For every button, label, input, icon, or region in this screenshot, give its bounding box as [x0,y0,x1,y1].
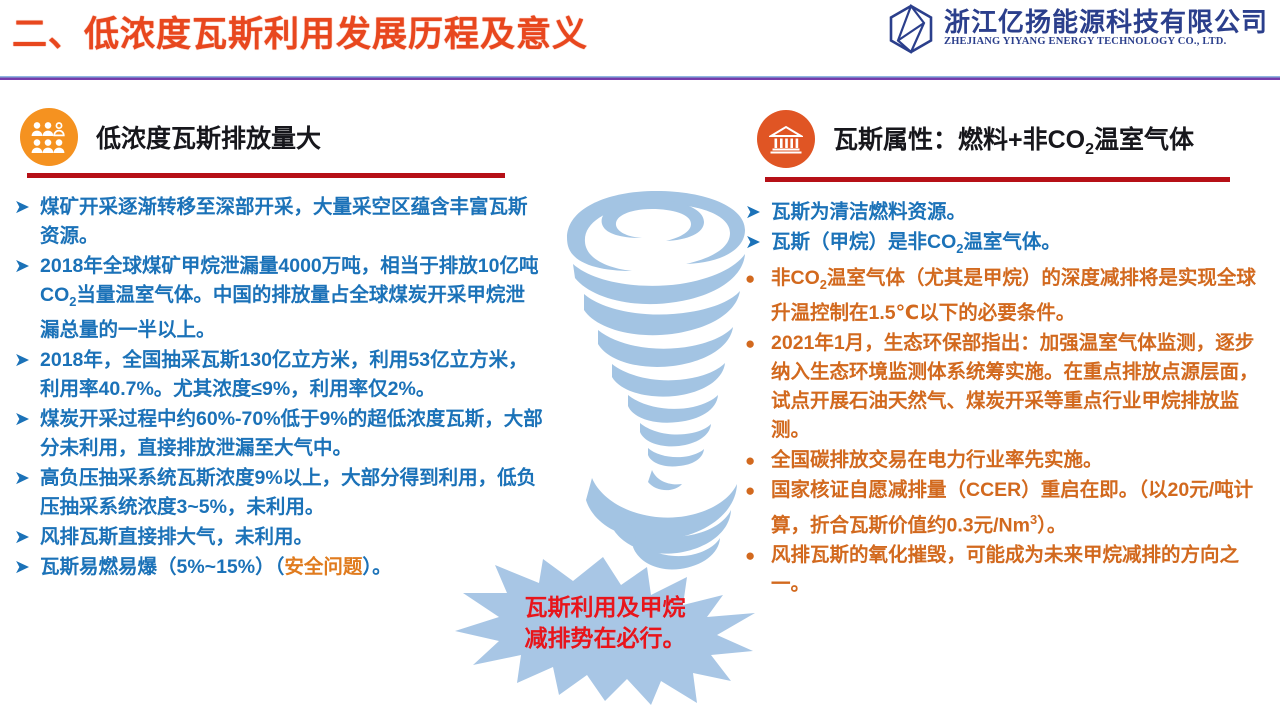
list-item-text: 非CO2温室气体（尤其是甲烷）的深度减排将是实现全球升温控制在1.5℃以下的必要… [771,264,1270,328]
dot-bullet-icon: ● [745,264,771,293]
hexagon-crystal-icon [888,4,934,54]
left-section-header: 低浓度瓦斯排放量大 [20,108,321,166]
arrow-bullet-icon: ➤ [14,523,40,552]
list-item: ➤ 煤矿开采逐渐转移至深部开采，大量采空区蕴含丰富瓦斯资源。 [14,193,544,251]
list-item: ➤ 2018年全球煤矿甲烷泄漏量4000万吨，相当于排放10亿吨CO2当量温室气… [14,252,544,345]
arrow-bullet-icon: ➤ [14,405,40,434]
arrow-bullet-icon: ➤ [14,346,40,375]
list-item-text: 2018年，全国抽采瓦斯130亿立方米，利用53亿立方米，利用率40.7%。尤其… [40,346,544,404]
list-item-text: 瓦斯为清洁燃料资源。 [771,198,966,227]
arrow-bullet-icon: ➤ [14,553,40,582]
list-item-text: 风排瓦斯直接排大气，未利用。 [40,523,313,552]
list-item: ● 风排瓦斯的氧化摧毁，可能成为未来甲烷减排的方向之一。 [745,541,1270,599]
left-header-underline [27,173,505,178]
left-bullet-list: ➤ 煤矿开采逐渐转移至深部开采，大量采空区蕴含丰富瓦斯资源。 ➤ 2018年全球… [14,193,544,583]
dot-bullet-icon: ● [745,476,771,505]
list-item-text: 全国碳排放交易在电力行业率先实施。 [771,446,1103,475]
header-divider [0,76,1280,80]
list-item-text: 高负压抽采系统瓦斯浓度9%以上，大部分得到利用，低负压抽采系统浓度3~5%，未利… [40,464,544,522]
list-item: ➤ 瓦斯（甲烷）是非CO2温室气体。 [745,228,1270,263]
arrow-bullet-icon: ➤ [14,193,40,222]
list-item-text: 2021年1月，生态环保部指出：加强温室气体监测，逐步纳入生态环境监测体系统筹实… [771,329,1270,445]
logo-company-cn: 浙江亿扬能源科技有限公司 [944,9,1268,36]
highlight-safety: 安全问题 [284,556,362,578]
right-header-underline [765,177,1230,182]
page-title: 二、低浓度瓦斯利用发展历程及意义 [12,6,588,57]
arrow-bullet-icon: ➤ [745,228,771,257]
dot-bullet-icon: ● [745,446,771,475]
list-item: ➤ 煤炭开采过程中约60%-70%低于9%的超低浓度瓦斯，大部分未利用，直接排放… [14,405,544,463]
right-section-title: 瓦斯属性：燃料+非CO2温室气体 [833,120,1194,159]
slide-canvas: 二、低浓度瓦斯利用发展历程及意义 浙江亿扬能源科技有限公司 ZHEJIANG Y… [0,0,1280,720]
callout-text: 瓦斯利用及甲烷 减排势在必行。 [455,592,755,654]
people-group-icon [20,108,78,166]
dot-bullet-icon: ● [745,329,771,358]
tornado-whirlwind-graphic [540,178,775,588]
right-section-header: 瓦斯属性：燃料+非CO2温室气体 [757,110,1194,168]
list-item-text: 国家核证自愿减排量（CCER）重启在即。（以20元/吨计算，折合瓦斯价值约0.3… [771,476,1270,541]
company-logo: 浙江亿扬能源科技有限公司 ZHEJIANG YIYANG ENERGY TECH… [888,4,1268,54]
list-item: ➤ 2018年，全国抽采瓦斯130亿立方米，利用53亿立方米，利用率40.7%。… [14,346,544,404]
list-item: ● 非CO2温室气体（尤其是甲烷）的深度减排将是实现全球升温控制在1.5℃以下的… [745,264,1270,328]
list-item: ● 2021年1月，生态环保部指出：加强温室气体监测，逐步纳入生态环境监测体系统… [745,329,1270,445]
list-item-text: 瓦斯（甲烷）是非CO2温室气体。 [771,228,1061,263]
left-section-title: 低浓度瓦斯排放量大 [96,119,321,155]
arrow-bullet-icon: ➤ [14,252,40,281]
list-item: ➤ 高负压抽采系统瓦斯浓度9%以上，大部分得到利用，低负压抽采系统浓度3~5%，… [14,464,544,522]
list-item-text: 瓦斯易燃易爆（5%~15%）（安全问题）。 [40,553,392,582]
list-item-text: 2018年全球煤矿甲烷泄漏量4000万吨，相当于排放10亿吨CO2当量温室气体。… [40,252,544,345]
arrow-bullet-icon: ➤ [14,464,40,493]
callout-line-2: 减排势在必行。 [455,623,755,654]
list-item-text: 风排瓦斯的氧化摧毁，可能成为未来甲烷减排的方向之一。 [771,541,1270,599]
list-item: ➤ 瓦斯为清洁燃料资源。 [745,198,1270,227]
list-item: ➤ 风排瓦斯直接排大气，未利用。 [14,523,544,552]
bank-building-icon [757,110,815,168]
right-bullet-list: ➤ 瓦斯为清洁燃料资源。 ➤ 瓦斯（甲烷）是非CO2温室气体。 ● 非CO2温室… [745,198,1270,600]
list-item: ● 国家核证自愿减排量（CCER）重启在即。（以20元/吨计算，折合瓦斯价值约0… [745,476,1270,541]
list-item-text: 煤矿开采逐渐转移至深部开采，大量采空区蕴含丰富瓦斯资源。 [40,193,544,251]
logo-text-block: 浙江亿扬能源科技有限公司 ZHEJIANG YIYANG ENERGY TECH… [944,9,1268,49]
arrow-bullet-icon: ➤ [745,198,771,227]
callout-line-1: 瓦斯利用及甲烷 [455,592,755,623]
list-item: ● 全国碳排放交易在电力行业率先实施。 [745,446,1270,475]
slide-header: 二、低浓度瓦斯利用发展历程及意义 浙江亿扬能源科技有限公司 ZHEJIANG Y… [0,0,1280,78]
logo-company-en: ZHEJIANG YIYANG ENERGY TECHNOLOGY CO., L… [944,36,1268,49]
list-item-text: 煤炭开采过程中约60%-70%低于9%的超低浓度瓦斯，大部分未利用，直接排放泄漏… [40,405,544,463]
